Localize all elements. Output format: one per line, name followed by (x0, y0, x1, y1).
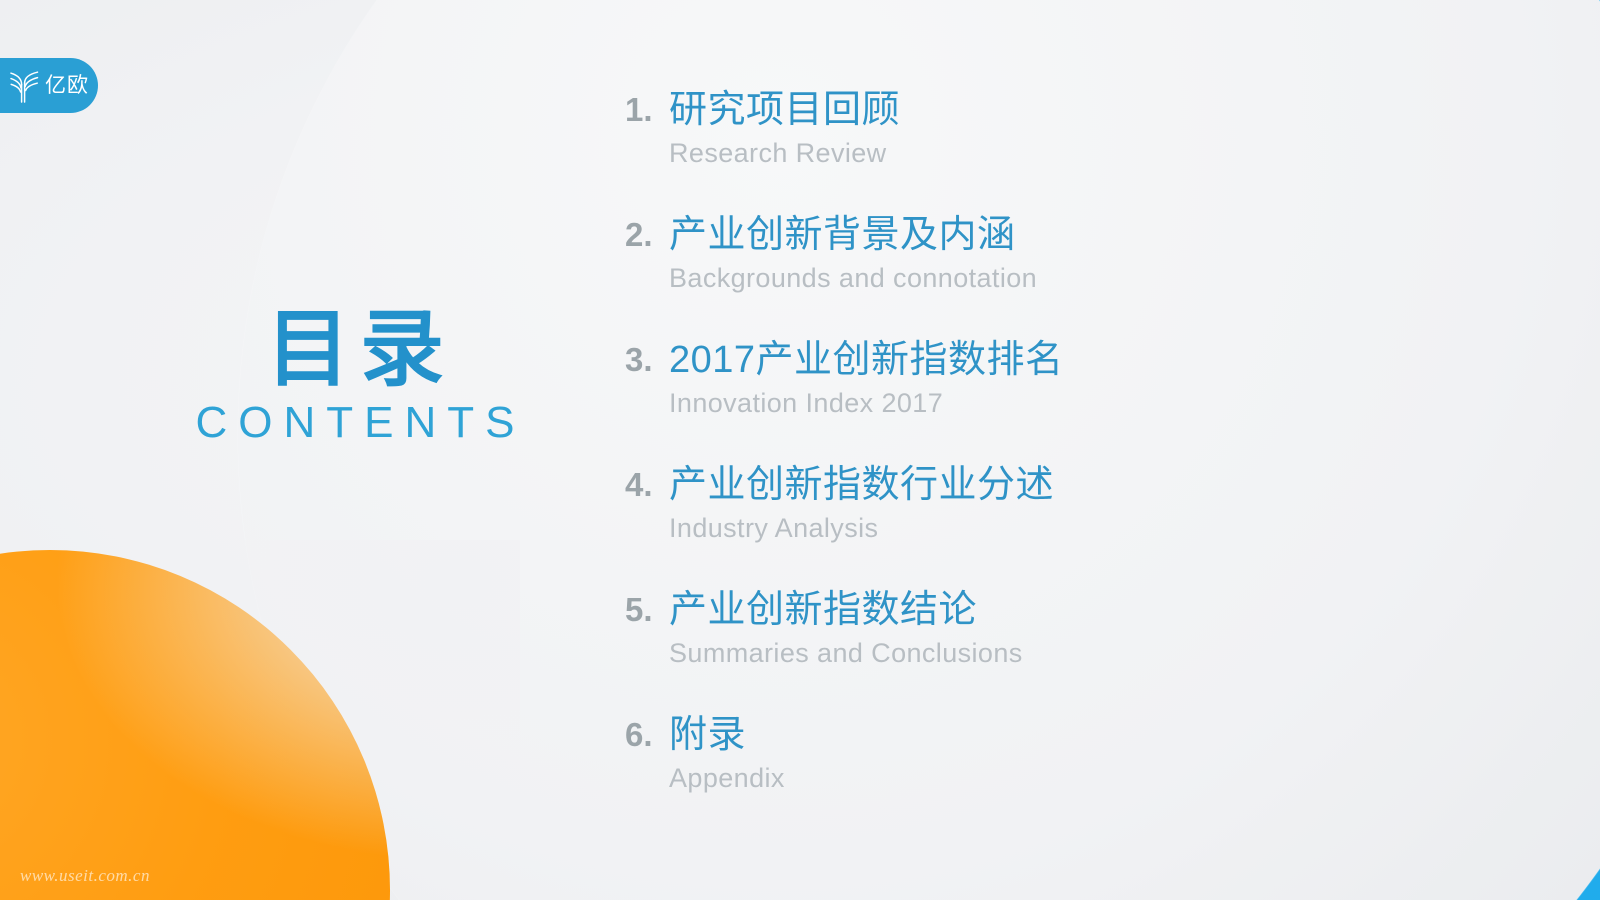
list-item-title-en: Research Review (669, 136, 1505, 170)
slide-canvas: www.useit.com.cn 亿欧 目录 CONTENTS (0, 0, 1600, 900)
left-haze-overlay (0, 540, 520, 900)
list-item[interactable]: 6. 附录 Appendix (625, 711, 1505, 795)
list-item-title-en: Appendix (669, 761, 1505, 795)
logo-wordmark: 亿欧 (45, 75, 89, 96)
list-item-number: 5. (625, 586, 669, 634)
list-item-title-cn: 2017产业创新指数排名 (669, 336, 1505, 384)
page-title-block: 目录 CONTENTS (150, 305, 560, 448)
orange-circle-shape (0, 550, 390, 900)
page-title-en: CONTENTS (150, 399, 560, 447)
page-title-cn: 目录 (150, 305, 560, 393)
list-item-title-cn: 产业创新指数行业分述 (669, 461, 1505, 509)
brand-logo[interactable]: 亿欧 (0, 58, 98, 113)
list-item-number: 4. (625, 461, 669, 509)
list-item-title-cn: 产业创新指数结论 (669, 586, 1505, 634)
list-item-title-en: Innovation Index 2017 (669, 386, 1505, 420)
list-item-number: 2. (625, 211, 669, 259)
list-item[interactable]: 5. 产业创新指数结论 Summaries and Conclusions (625, 586, 1505, 670)
list-item-title-en: Summaries and Conclusions (669, 636, 1505, 670)
list-item-title-cn: 附录 (669, 711, 1505, 759)
tree-logo-icon (10, 69, 40, 103)
list-item-title-en: Industry Analysis (669, 511, 1505, 545)
list-item[interactable]: 2. 产业创新背景及内涵 Backgrounds and connotation (625, 211, 1505, 295)
list-item[interactable]: 3. 2017产业创新指数排名 Innovation Index 2017 (625, 336, 1505, 420)
list-item-title-cn: 产业创新背景及内涵 (669, 211, 1505, 259)
watermark-text: www.useit.com.cn (20, 866, 150, 886)
list-item-number: 6. (625, 711, 669, 759)
list-item-number: 3. (625, 336, 669, 384)
list-item[interactable]: 4. 产业创新指数行业分述 Industry Analysis (625, 461, 1505, 545)
list-item-title-en: Backgrounds and connotation (669, 261, 1505, 295)
contents-list: 1. 研究项目回顾 Research Review 2. 产业创新背景及内涵 B… (625, 86, 1505, 795)
list-item[interactable]: 1. 研究项目回顾 Research Review (625, 86, 1505, 170)
list-item-number: 1. (625, 86, 669, 134)
list-item-title-cn: 研究项目回顾 (669, 86, 1505, 134)
